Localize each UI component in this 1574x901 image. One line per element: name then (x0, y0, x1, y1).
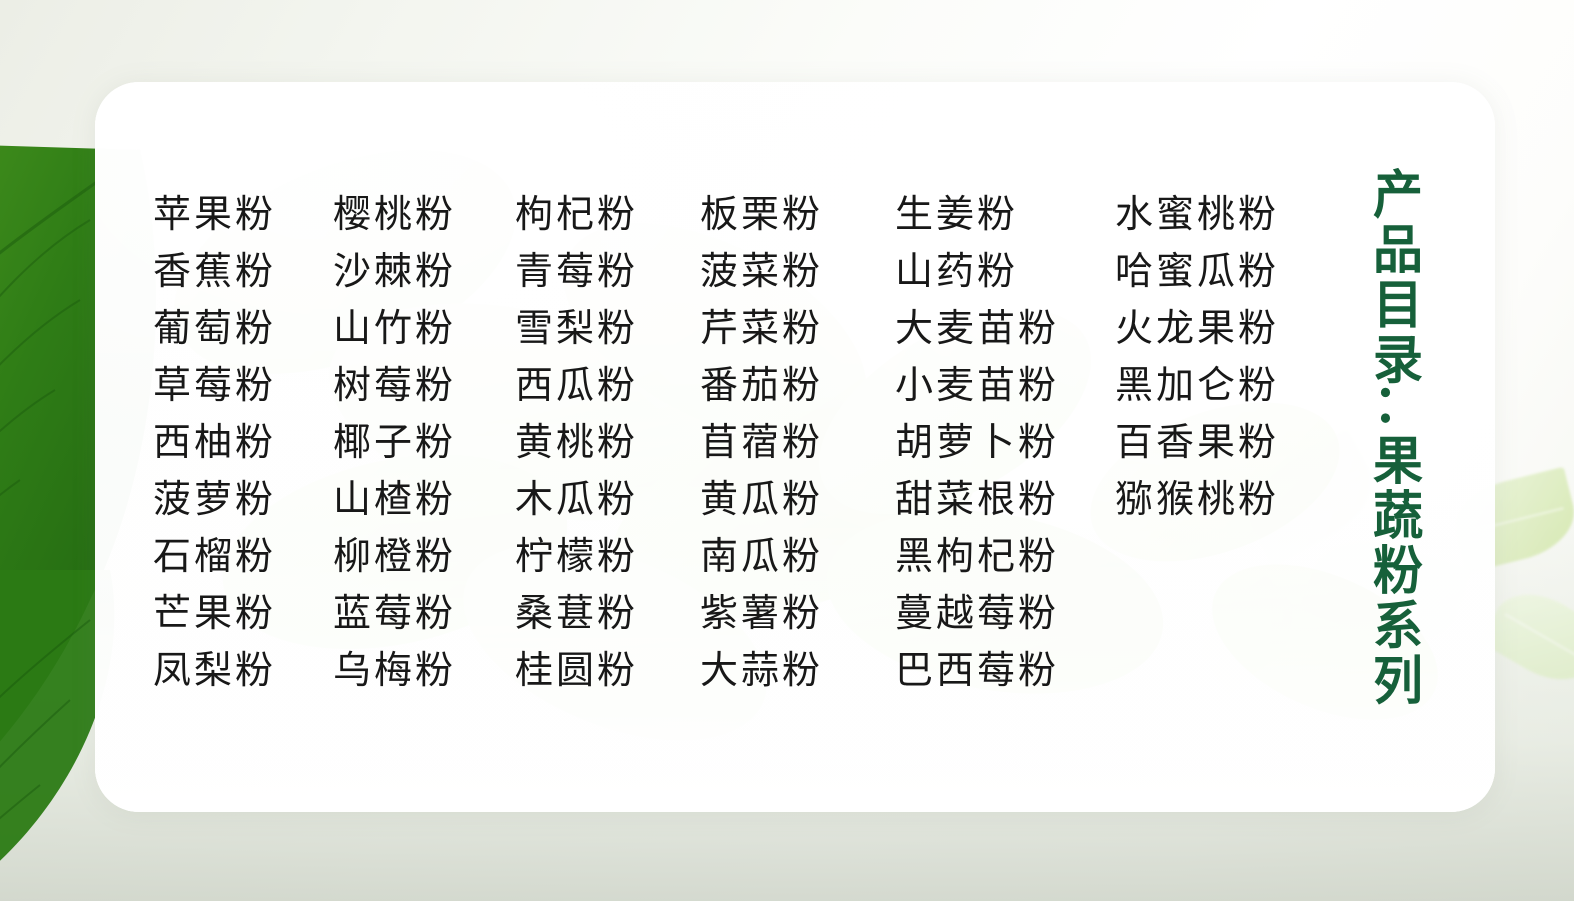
product-item[interactable]: 小麦苗粉 (895, 367, 1115, 405)
product-item[interactable]: 黄桃粉 (515, 424, 700, 462)
product-item[interactable]: 葡萄粉 (153, 310, 333, 348)
title-char: 蔬 (1373, 491, 1423, 544)
product-item[interactable]: 山竹粉 (333, 310, 515, 348)
title-char-colon: ： (1373, 390, 1423, 434)
product-item[interactable]: 青莓粉 (515, 253, 700, 291)
product-item[interactable]: 蔓越莓粉 (895, 595, 1115, 633)
product-item[interactable]: 石榴粉 (153, 538, 333, 576)
product-item[interactable]: 火龙果粉 (1115, 310, 1315, 348)
product-item[interactable]: 黑枸杞粉 (895, 538, 1115, 576)
title-char: 品 (1373, 225, 1423, 278)
product-item[interactable]: 草莓粉 (153, 367, 333, 405)
product-item[interactable]: 雪梨粉 (515, 310, 700, 348)
title-char: 列 (1373, 656, 1423, 709)
product-item[interactable]: 菠菜粉 (700, 253, 895, 291)
product-item[interactable]: 山药粉 (895, 253, 1115, 291)
product-item[interactable]: 大麦苗粉 (895, 310, 1115, 348)
product-item[interactable]: 猕猴桃粉 (1115, 481, 1315, 519)
product-item[interactable]: 紫薯粉 (700, 595, 895, 633)
product-item[interactable]: 百香果粉 (1115, 424, 1315, 462)
title-char: 果 (1373, 436, 1423, 489)
title-char: 粉 (1373, 546, 1423, 599)
title-char: 目 (1373, 280, 1423, 333)
product-item[interactable]: 桂圆粉 (515, 652, 700, 690)
product-item[interactable]: 芹菜粉 (700, 310, 895, 348)
product-item[interactable]: 板栗粉 (700, 196, 895, 234)
product-item[interactable]: 柠檬粉 (515, 538, 700, 576)
product-item[interactable]: 菠萝粉 (153, 481, 333, 519)
product-item[interactable]: 香蕉粉 (153, 253, 333, 291)
product-item[interactable]: 西瓜粉 (515, 367, 700, 405)
product-item[interactable]: 苜蓿粉 (700, 424, 895, 462)
product-item[interactable]: 椰子粉 (333, 424, 515, 462)
product-item[interactable]: 生姜粉 (895, 196, 1115, 234)
product-item[interactable]: 蓝莓粉 (333, 595, 515, 633)
product-item[interactable]: 甜菜根粉 (895, 481, 1115, 519)
catalog-card: 苹果粉 樱桃粉 枸杞粉 板栗粉 生姜粉 水蜜桃粉 香蕉粉 沙棘粉 青莓粉 菠菜粉… (95, 82, 1495, 812)
product-item[interactable]: 苹果粉 (153, 196, 333, 234)
product-item[interactable]: 凤梨粉 (153, 652, 333, 690)
product-item[interactable]: 乌梅粉 (333, 652, 515, 690)
product-item[interactable]: 番茄粉 (700, 367, 895, 405)
product-item[interactable]: 树莓粉 (333, 367, 515, 405)
product-item[interactable]: 沙棘粉 (333, 253, 515, 291)
title-char: 产 (1373, 170, 1423, 223)
product-item[interactable]: 南瓜粉 (700, 538, 895, 576)
product-item[interactable]: 木瓜粉 (515, 481, 700, 519)
title-char: 系 (1373, 601, 1423, 654)
product-item[interactable]: 西柚粉 (153, 424, 333, 462)
poster-canvas: 苹果粉 樱桃粉 枸杞粉 板栗粉 生姜粉 水蜜桃粉 香蕉粉 沙棘粉 青莓粉 菠菜粉… (0, 0, 1574, 901)
product-item[interactable]: 巴西莓粉 (895, 652, 1115, 690)
catalog-title-vertical: 产 品 目 录 ： 果 蔬 粉 系 列 (1365, 170, 1431, 709)
product-item[interactable]: 柳橙粉 (333, 538, 515, 576)
product-item[interactable]: 胡萝卜粉 (895, 424, 1115, 462)
product-grid: 苹果粉 樱桃粉 枸杞粉 板栗粉 生姜粉 水蜜桃粉 香蕉粉 沙棘粉 青莓粉 菠菜粉… (153, 186, 1315, 699)
product-item[interactable]: 大蒜粉 (700, 652, 895, 690)
product-item[interactable]: 桑葚粉 (515, 595, 700, 633)
product-item[interactable]: 山楂粉 (333, 481, 515, 519)
product-item[interactable]: 水蜜桃粉 (1115, 196, 1315, 234)
product-item[interactable]: 枸杞粉 (515, 196, 700, 234)
product-item[interactable]: 黑加仑粉 (1115, 367, 1315, 405)
product-item[interactable]: 黄瓜粉 (700, 481, 895, 519)
product-item[interactable]: 哈蜜瓜粉 (1115, 253, 1315, 291)
product-item[interactable]: 芒果粉 (153, 595, 333, 633)
product-item[interactable]: 樱桃粉 (333, 196, 515, 234)
